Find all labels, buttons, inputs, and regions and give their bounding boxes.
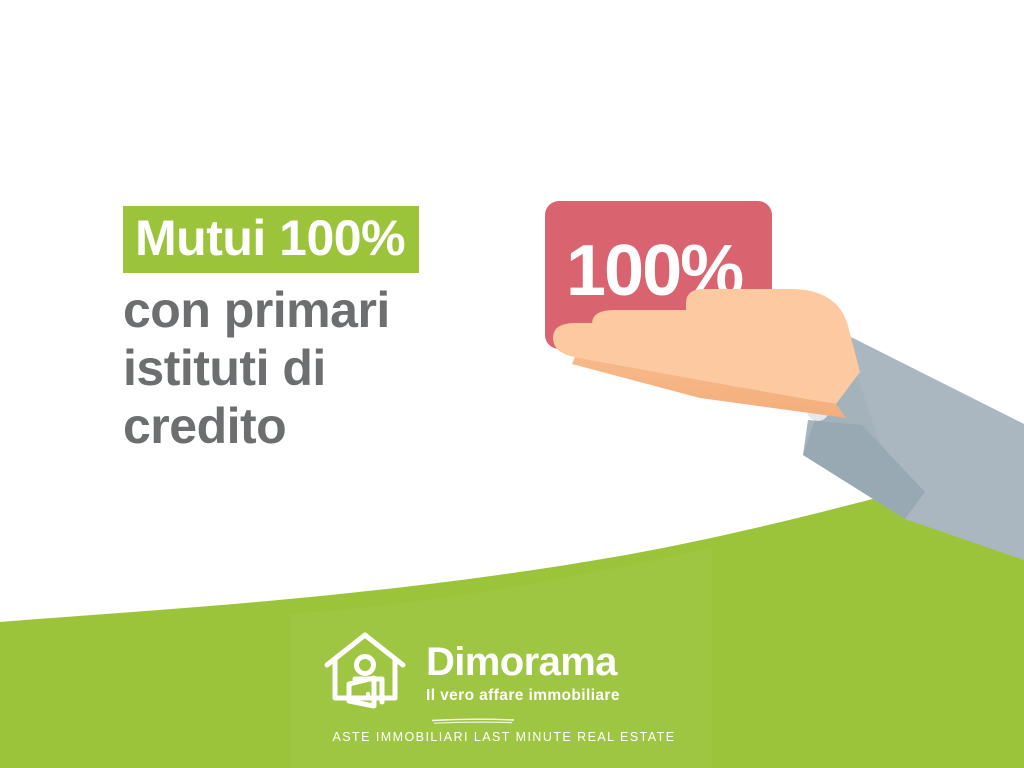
house-with-open-door-icon (322, 628, 408, 714)
logo-wordmark-group: Dimorama Il vero affare immobiliare (426, 638, 620, 704)
logo-divider-rule (430, 718, 516, 725)
banner-canvas: 100% Mutui 100% con primari istituti di … (0, 0, 1024, 768)
percent-card: 100% (545, 201, 772, 349)
shirt-sleeve (803, 333, 1024, 560)
sleeve-button-icon (807, 399, 829, 421)
headline-block: Mutui 100% con primari istituti di credi… (123, 206, 523, 455)
headline-line-3: istituti di (123, 339, 523, 397)
open-hand (553, 289, 886, 430)
headline-highlight: Mutui 100% (123, 206, 419, 273)
logo-strapline: ASTE IMMOBILIARI LAST MINUTE REAL ESTATE (324, 730, 684, 744)
headline-line-4: credito (123, 397, 523, 455)
headline-body: con primari istituti di credito (123, 281, 523, 455)
headline-line-1: Mutui 100% (135, 214, 405, 263)
dimorama-logo[interactable]: Dimorama Il vero affare immobiliare ASTE… (322, 622, 682, 750)
headline-line-2: con primari (123, 281, 523, 339)
logo-row: Dimorama Il vero affare immobiliare (322, 628, 620, 714)
logo-wordmark: Dimorama (426, 642, 620, 682)
logo-tagline: Il vero affare immobiliare (426, 688, 620, 704)
percent-card-label: 100% (566, 231, 743, 311)
